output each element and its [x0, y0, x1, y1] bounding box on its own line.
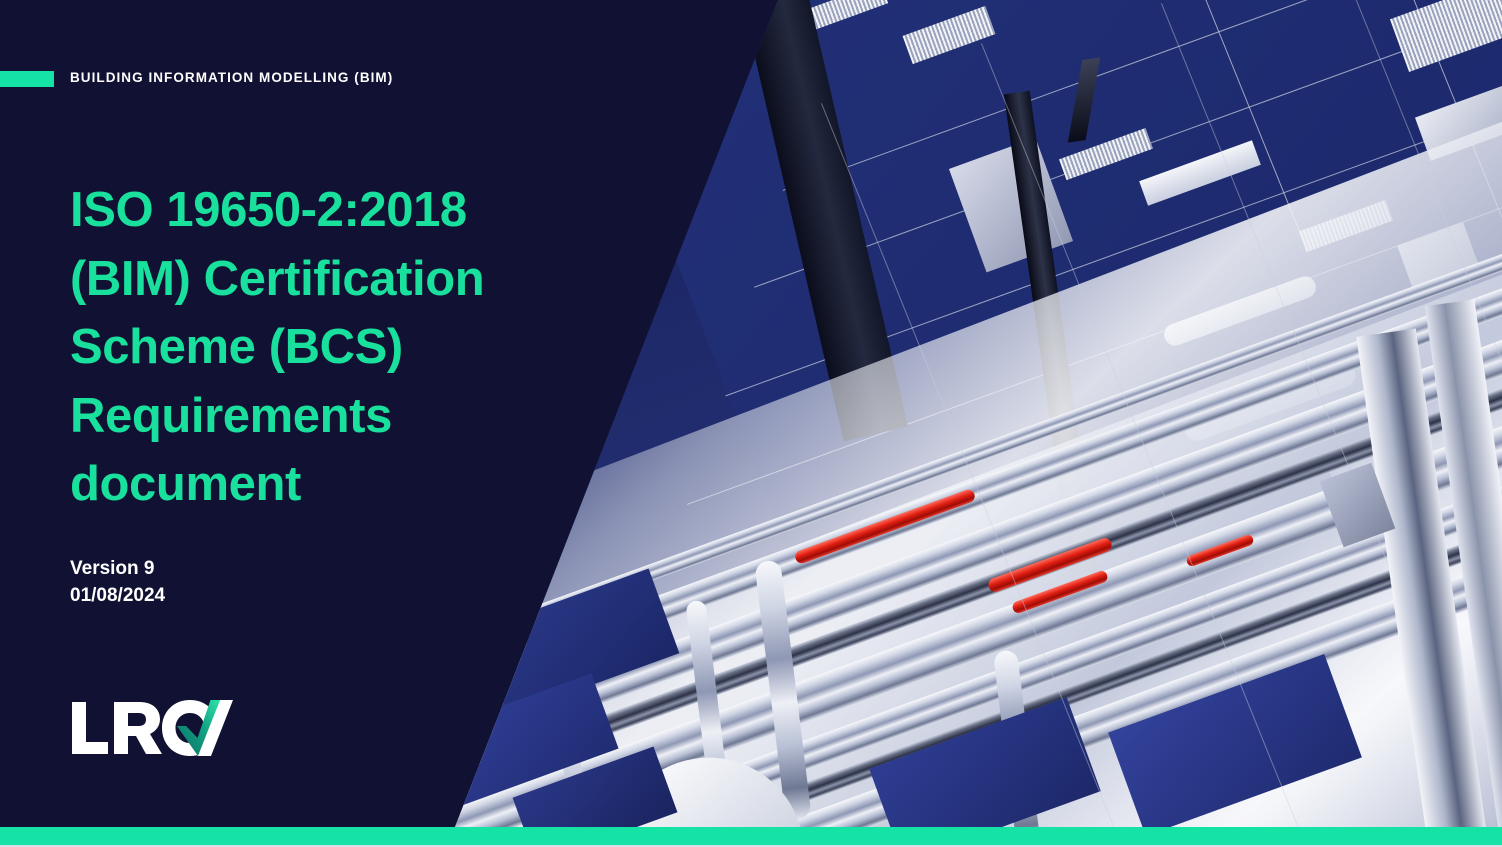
page-title-line-3: Scheme (BCS): [70, 313, 540, 382]
document-meta: Version 9 01/08/2024: [70, 556, 165, 610]
lrqa-logo: [70, 698, 235, 760]
page-title-line-5: document: [70, 450, 540, 519]
date-label: 01/08/2024: [70, 583, 165, 610]
page-title-line-4: Requirements: [70, 382, 540, 451]
page-title-line-2: (BIM) Certification: [70, 245, 540, 314]
bottom-accent-bar: [0, 827, 1502, 845]
lrqa-logo-mark: [70, 698, 235, 760]
page-title-line-1: ISO 19650-2:2018: [70, 176, 540, 245]
version-label: Version 9: [70, 556, 165, 583]
page-title: ISO 19650-2:2018 (BIM) Certification Sch…: [70, 176, 540, 519]
eyebrow-label: BUILDING INFORMATION MODELLING (BIM): [70, 70, 393, 85]
document-cover-page: BUILDING INFORMATION MODELLING (BIM) ISO…: [0, 0, 1502, 847]
eyebrow-accent-bar: [0, 71, 54, 87]
